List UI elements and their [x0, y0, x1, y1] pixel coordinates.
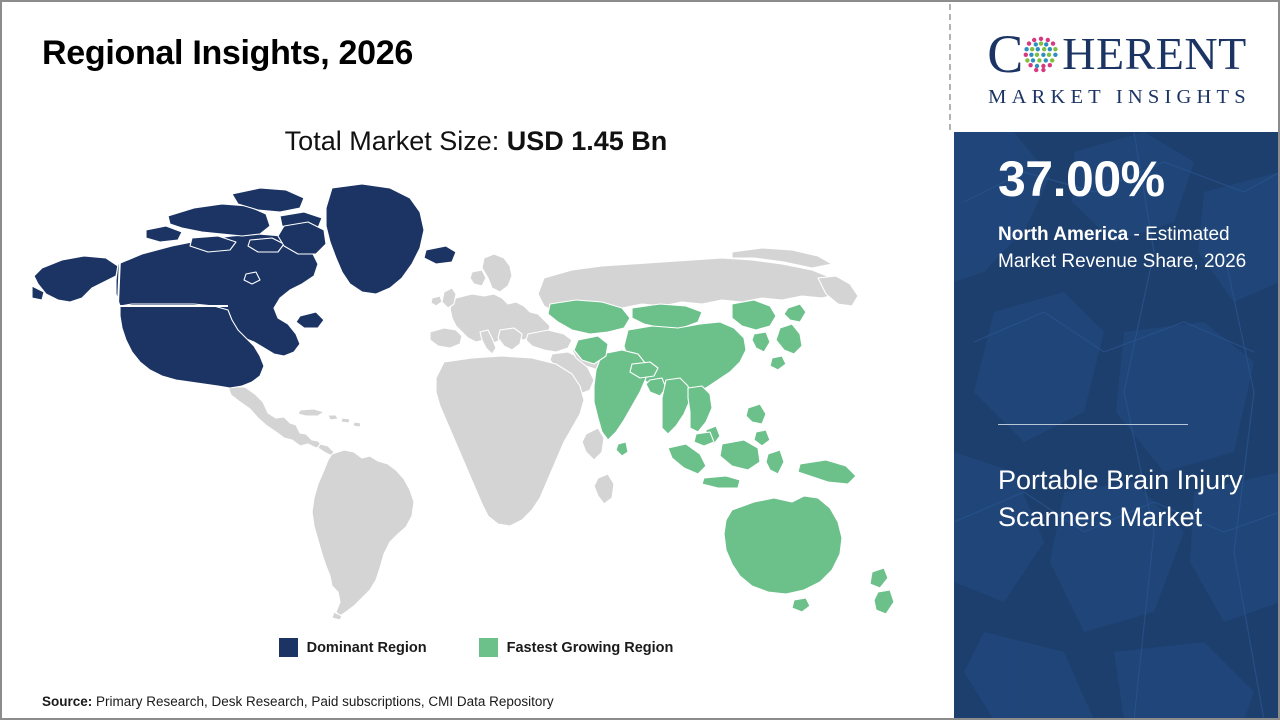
map-legend: Dominant Region Fastest Growing Region — [2, 638, 950, 657]
logo-word-herent: HERENT — [1062, 31, 1246, 77]
coherent-market-insights-logo: C — [954, 4, 1280, 130]
source-label: Source: — [42, 694, 92, 709]
vertical-dashed-divider — [949, 4, 951, 130]
page-title: Regional Insights, 2026 — [42, 34, 413, 73]
stat-description: North America - Estimated Market Revenue… — [998, 222, 1256, 276]
total-market-size-value: USD 1.45 Bn — [507, 126, 668, 156]
world-map-svg — [32, 182, 912, 622]
source-note: Source: Primary Research, Desk Research,… — [42, 694, 554, 709]
regional-insights-slide: Regional Insights, 2026 Total Market Siz… — [0, 0, 1280, 720]
legend-item-fastest-growing: Fastest Growing Region — [479, 638, 674, 657]
logo-tagline: MARKET INSIGHTS — [983, 86, 1251, 109]
legend-swatch-fastest-growing — [479, 638, 498, 657]
map-region-north-america — [32, 184, 456, 388]
source-text: Primary Research, Desk Research, Paid su… — [92, 694, 553, 709]
stat-percent: 37.00% — [998, 154, 1165, 204]
logo-wordmark: C — [987, 26, 1246, 82]
logo-letter-c: C — [987, 27, 1023, 81]
stat-region-name: North America — [998, 224, 1128, 245]
total-market-size-label: Total Market Size: — [285, 126, 507, 156]
legend-swatch-dominant — [279, 638, 298, 657]
legend-item-dominant: Dominant Region — [279, 638, 427, 657]
stat-panel: 37.00% North America - Estimated Market … — [954, 132, 1280, 720]
map-region-asia-pacific — [548, 300, 894, 614]
legend-label-fastest-growing: Fastest Growing Region — [507, 640, 674, 656]
panel-divider-rule — [998, 424, 1188, 425]
stat-panel-content: 37.00% North America - Estimated Market … — [998, 132, 1262, 720]
left-content-pane: Regional Insights, 2026 Total Market Siz… — [2, 2, 950, 718]
legend-label-dominant: Dominant Region — [307, 640, 427, 656]
globe-dots-icon — [1021, 34, 1061, 74]
world-map — [32, 182, 912, 622]
market-name: Portable Brain Injury Scanners Market — [998, 462, 1258, 537]
total-market-size: Total Market Size: USD 1.45 Bn — [2, 126, 950, 157]
